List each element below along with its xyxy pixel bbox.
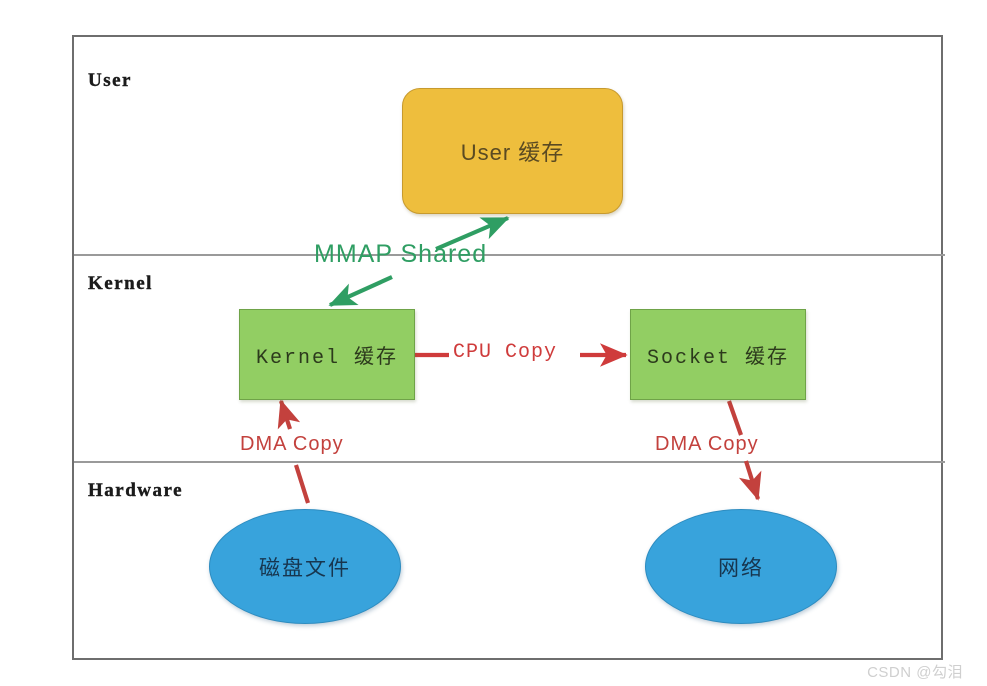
edge-label-cpu-copy: CPU Copy bbox=[453, 341, 557, 364]
diagram-frame: User Kernel Hardware bbox=[72, 35, 943, 660]
node-socket-buffer[interactable]: Socket 缓存 bbox=[630, 309, 806, 400]
node-disk-file-label: 磁盘文件 bbox=[259, 552, 351, 582]
node-user-buffer-label: User 缓存 bbox=[461, 135, 565, 167]
node-network-label: 网络 bbox=[718, 552, 764, 582]
arrow-mmap-to-kernel bbox=[330, 277, 392, 305]
zone-label-hardware: Hardware bbox=[88, 480, 183, 502]
edge-label-dma-copy-write: DMA Copy bbox=[655, 433, 759, 456]
node-kernel-buffer[interactable]: Kernel 缓存 bbox=[239, 309, 415, 400]
zone-divider-user-kernel bbox=[74, 254, 945, 256]
zone-label-kernel: Kernel bbox=[88, 273, 153, 295]
node-kernel-buffer-label: Kernel 缓存 bbox=[256, 340, 398, 370]
node-disk-file[interactable]: 磁盘文件 bbox=[209, 509, 401, 624]
zone-divider-kernel-hardware bbox=[74, 461, 945, 463]
node-network[interactable]: 网络 bbox=[645, 509, 837, 624]
diagram-canvas: User Kernel Hardware bbox=[0, 0, 987, 686]
edge-label-dma-copy-read: DMA Copy bbox=[240, 433, 344, 456]
watermark: CSDN @勾泪 bbox=[867, 661, 963, 682]
zone-label-user: User bbox=[88, 70, 132, 92]
node-socket-buffer-label: Socket 缓存 bbox=[647, 340, 789, 370]
edge-label-mmap-shared: MMAP Shared bbox=[314, 240, 487, 269]
node-user-buffer[interactable]: User 缓存 bbox=[402, 88, 623, 214]
